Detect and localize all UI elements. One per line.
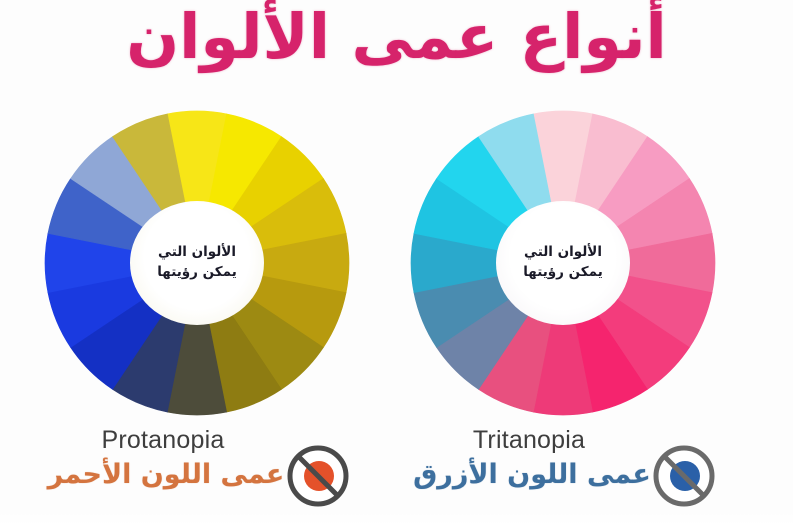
- infographic-page: أنواع عمى الألوان الألوان التي يمكن رؤيت…: [0, 0, 793, 525]
- hub-line-2: يمكن رؤيتها: [523, 263, 603, 283]
- hub-line-2: يمكن رؤيتها: [157, 263, 237, 283]
- wheel-hub-tritanopia: الألوان التي يمكن رؤيتها: [496, 201, 630, 325]
- label-tritanopia-en: Tritanopia: [398, 426, 660, 455]
- panel-tritanopia: الألوان التي يمكن رؤيتها Tritanopia عمى …: [398, 108, 728, 518]
- hub-line-1: الألوان التي: [524, 243, 602, 263]
- wheel-hub-protanopia: الألوان التي يمكن رؤيتها: [130, 201, 264, 325]
- label-tritanopia-ar: عمى اللون الأزرق: [398, 459, 666, 490]
- hub-line-1: الألوان التي: [158, 243, 236, 263]
- panel-protanopia: الألوان التي يمكن رؤيتها Protanopia عمى …: [32, 108, 362, 518]
- caption-tritanopia: Tritanopia عمى اللون الأزرق: [398, 426, 728, 518]
- caption-protanopia: Protanopia عمى اللون الأحمر: [32, 426, 362, 518]
- page-title: أنواع عمى الألوان: [0, 0, 793, 76]
- label-protanopia-ar: عمى اللون الأحمر: [32, 459, 300, 490]
- label-protanopia-en: Protanopia: [32, 426, 294, 455]
- color-wheel-protanopia: الألوان التي يمكن رؤيتها: [42, 108, 352, 418]
- no-blue-circle-icon: [646, 438, 722, 514]
- no-red-circle-icon: [280, 438, 356, 514]
- color-wheel-tritanopia: الألوان التي يمكن رؤيتها: [408, 108, 718, 418]
